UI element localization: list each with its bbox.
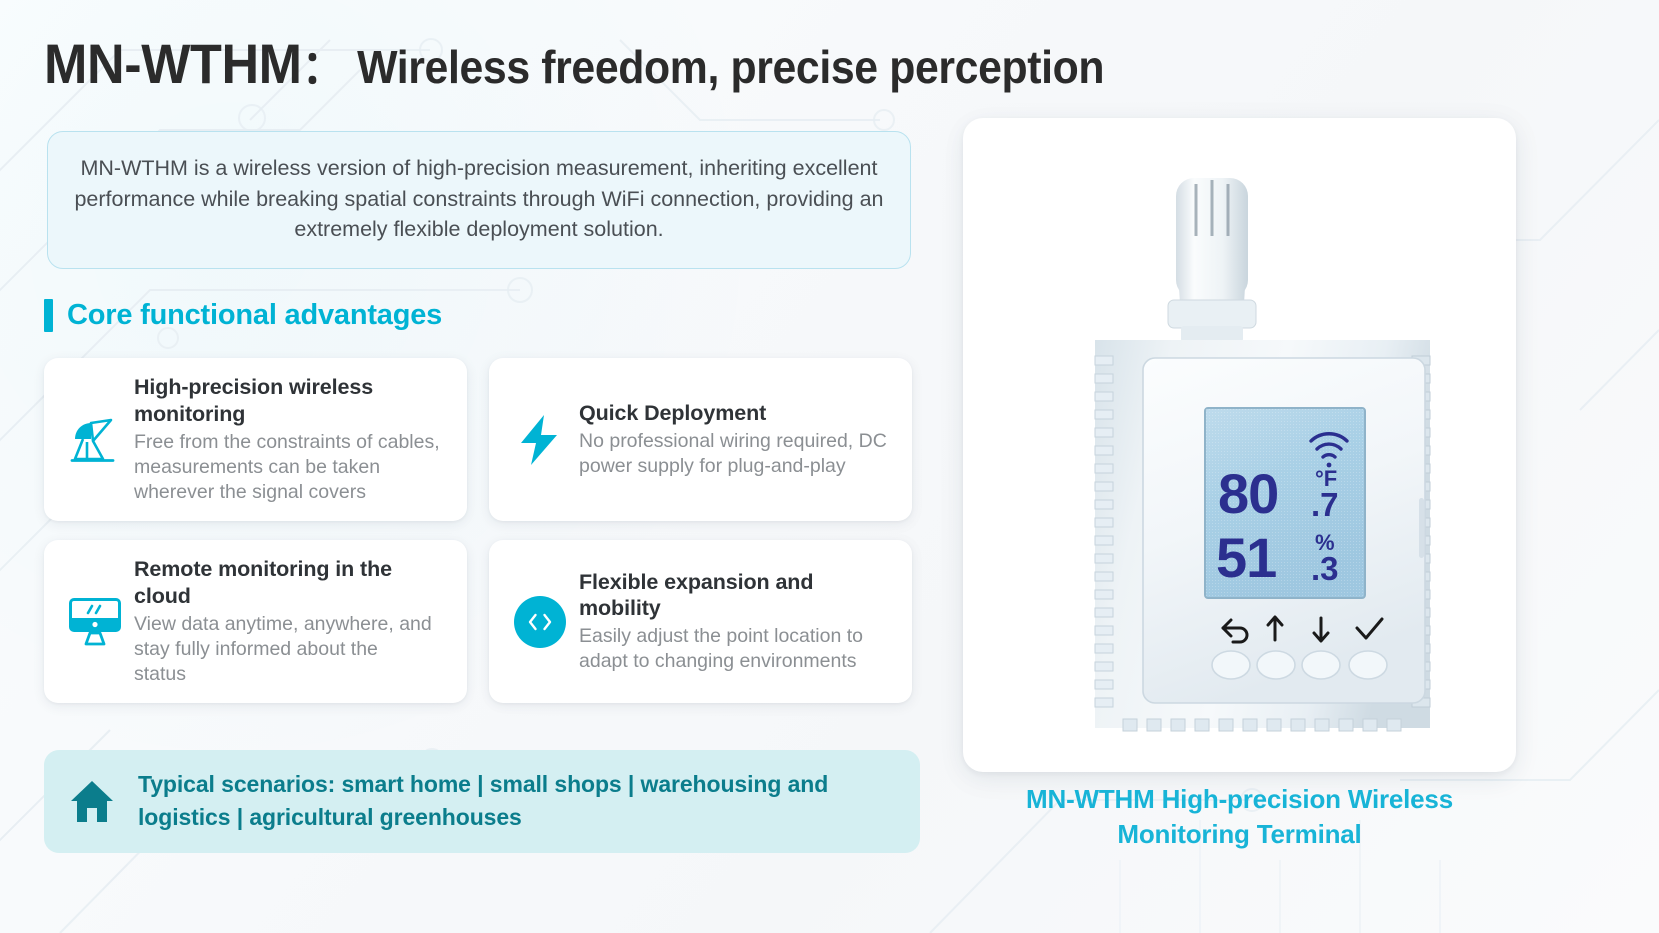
feature-card-title: Quick Deployment [579,400,896,426]
lcd-temperature-decimal: .7 [1311,486,1339,523]
page-title-model: MN-WTHM [44,32,302,95]
slide-root: MN-WTHM：Wireless freedom, precise percep… [0,0,1659,933]
left-content-column: MN-WTHM：Wireless freedom, precise percep… [42,0,922,933]
lightning-bolt-icon [503,412,577,468]
feature-card-quick-deployment[interactable]: Quick Deployment No professional wiring … [489,358,912,521]
product-image-card: 80 .7 °F 51 .3 % [963,118,1516,772]
sensor-probe [1168,178,1256,342]
code-brackets-icon-circle [514,596,566,648]
feature-card-description: Free from the constraints of cables, mea… [134,430,451,505]
desktop-monitor-icon [58,596,132,648]
lcd-humidity-unit: % [1315,530,1335,555]
typical-scenarios-banner: Typical scenarios: smart home | small sh… [44,750,920,853]
feature-card-title: Remote monitoring in the cloud [134,556,451,608]
back-button [1212,651,1250,679]
feature-card-body: Flexible expansion and mobility Easily a… [577,569,896,674]
section-heading-label: Core functional advantages [67,299,442,332]
confirm-button [1349,651,1387,679]
feature-card-description: View data anytime, anywhere, and stay fu… [134,612,451,687]
feature-card-grid: High-precision wireless monitoring Free … [44,358,920,703]
code-brackets-icon [503,596,577,648]
page-title: MN-WTHM：Wireless freedom, precise percep… [44,31,1104,97]
feature-card-remote-cloud-monitoring[interactable]: Remote monitoring in the cloud View data… [44,540,467,703]
down-button [1302,651,1340,679]
up-button [1257,651,1295,679]
lcd-temperature-unit: °F [1315,466,1337,491]
feature-card-high-precision-wireless-monitoring[interactable]: High-precision wireless monitoring Free … [44,358,467,521]
section-accent-bar [44,299,53,332]
feature-card-title: Flexible expansion and mobility [579,569,896,621]
intro-callout: MN-WTHM is a wireless version of high-pr… [47,131,911,269]
satellite-dish-icon [58,412,132,468]
lcd-humidity-decimal: .3 [1311,550,1339,587]
lcd-humidity-value: 51 [1216,526,1276,589]
feature-card-description: No professional wiring required, DC powe… [579,429,896,479]
page-title-tagline: Wireless freedom, precise perception [346,41,1104,93]
feature-card-description: Easily adjust the point location to adap… [579,624,896,674]
product-caption: MN-WTHM High-precision Wireless Monitori… [963,782,1516,853]
feature-card-body: Remote monitoring in the cloud View data… [132,556,451,686]
page-title-separator: ： [302,41,346,93]
device-illustration: 80 .7 °F 51 .3 % [963,118,1516,772]
lcd-temperature-value: 80 [1218,462,1278,525]
house-icon [66,778,118,824]
section-heading: Core functional advantages [44,299,442,332]
product-photo-stage: 80 .7 °F 51 .3 % [963,118,1516,772]
feature-card-body: High-precision wireless monitoring Free … [132,374,451,504]
feature-card-title: High-precision wireless monitoring [134,374,451,426]
feature-card-body: Quick Deployment No professional wiring … [577,400,896,479]
feature-card-flexible-expansion[interactable]: Flexible expansion and mobility Easily a… [489,540,912,703]
lcd-display: 80 .7 °F 51 .3 % [1205,408,1365,598]
intro-text: MN-WTHM is a wireless version of high-pr… [74,153,884,245]
typical-scenarios-text: Typical scenarios: smart home | small sh… [138,768,828,833]
